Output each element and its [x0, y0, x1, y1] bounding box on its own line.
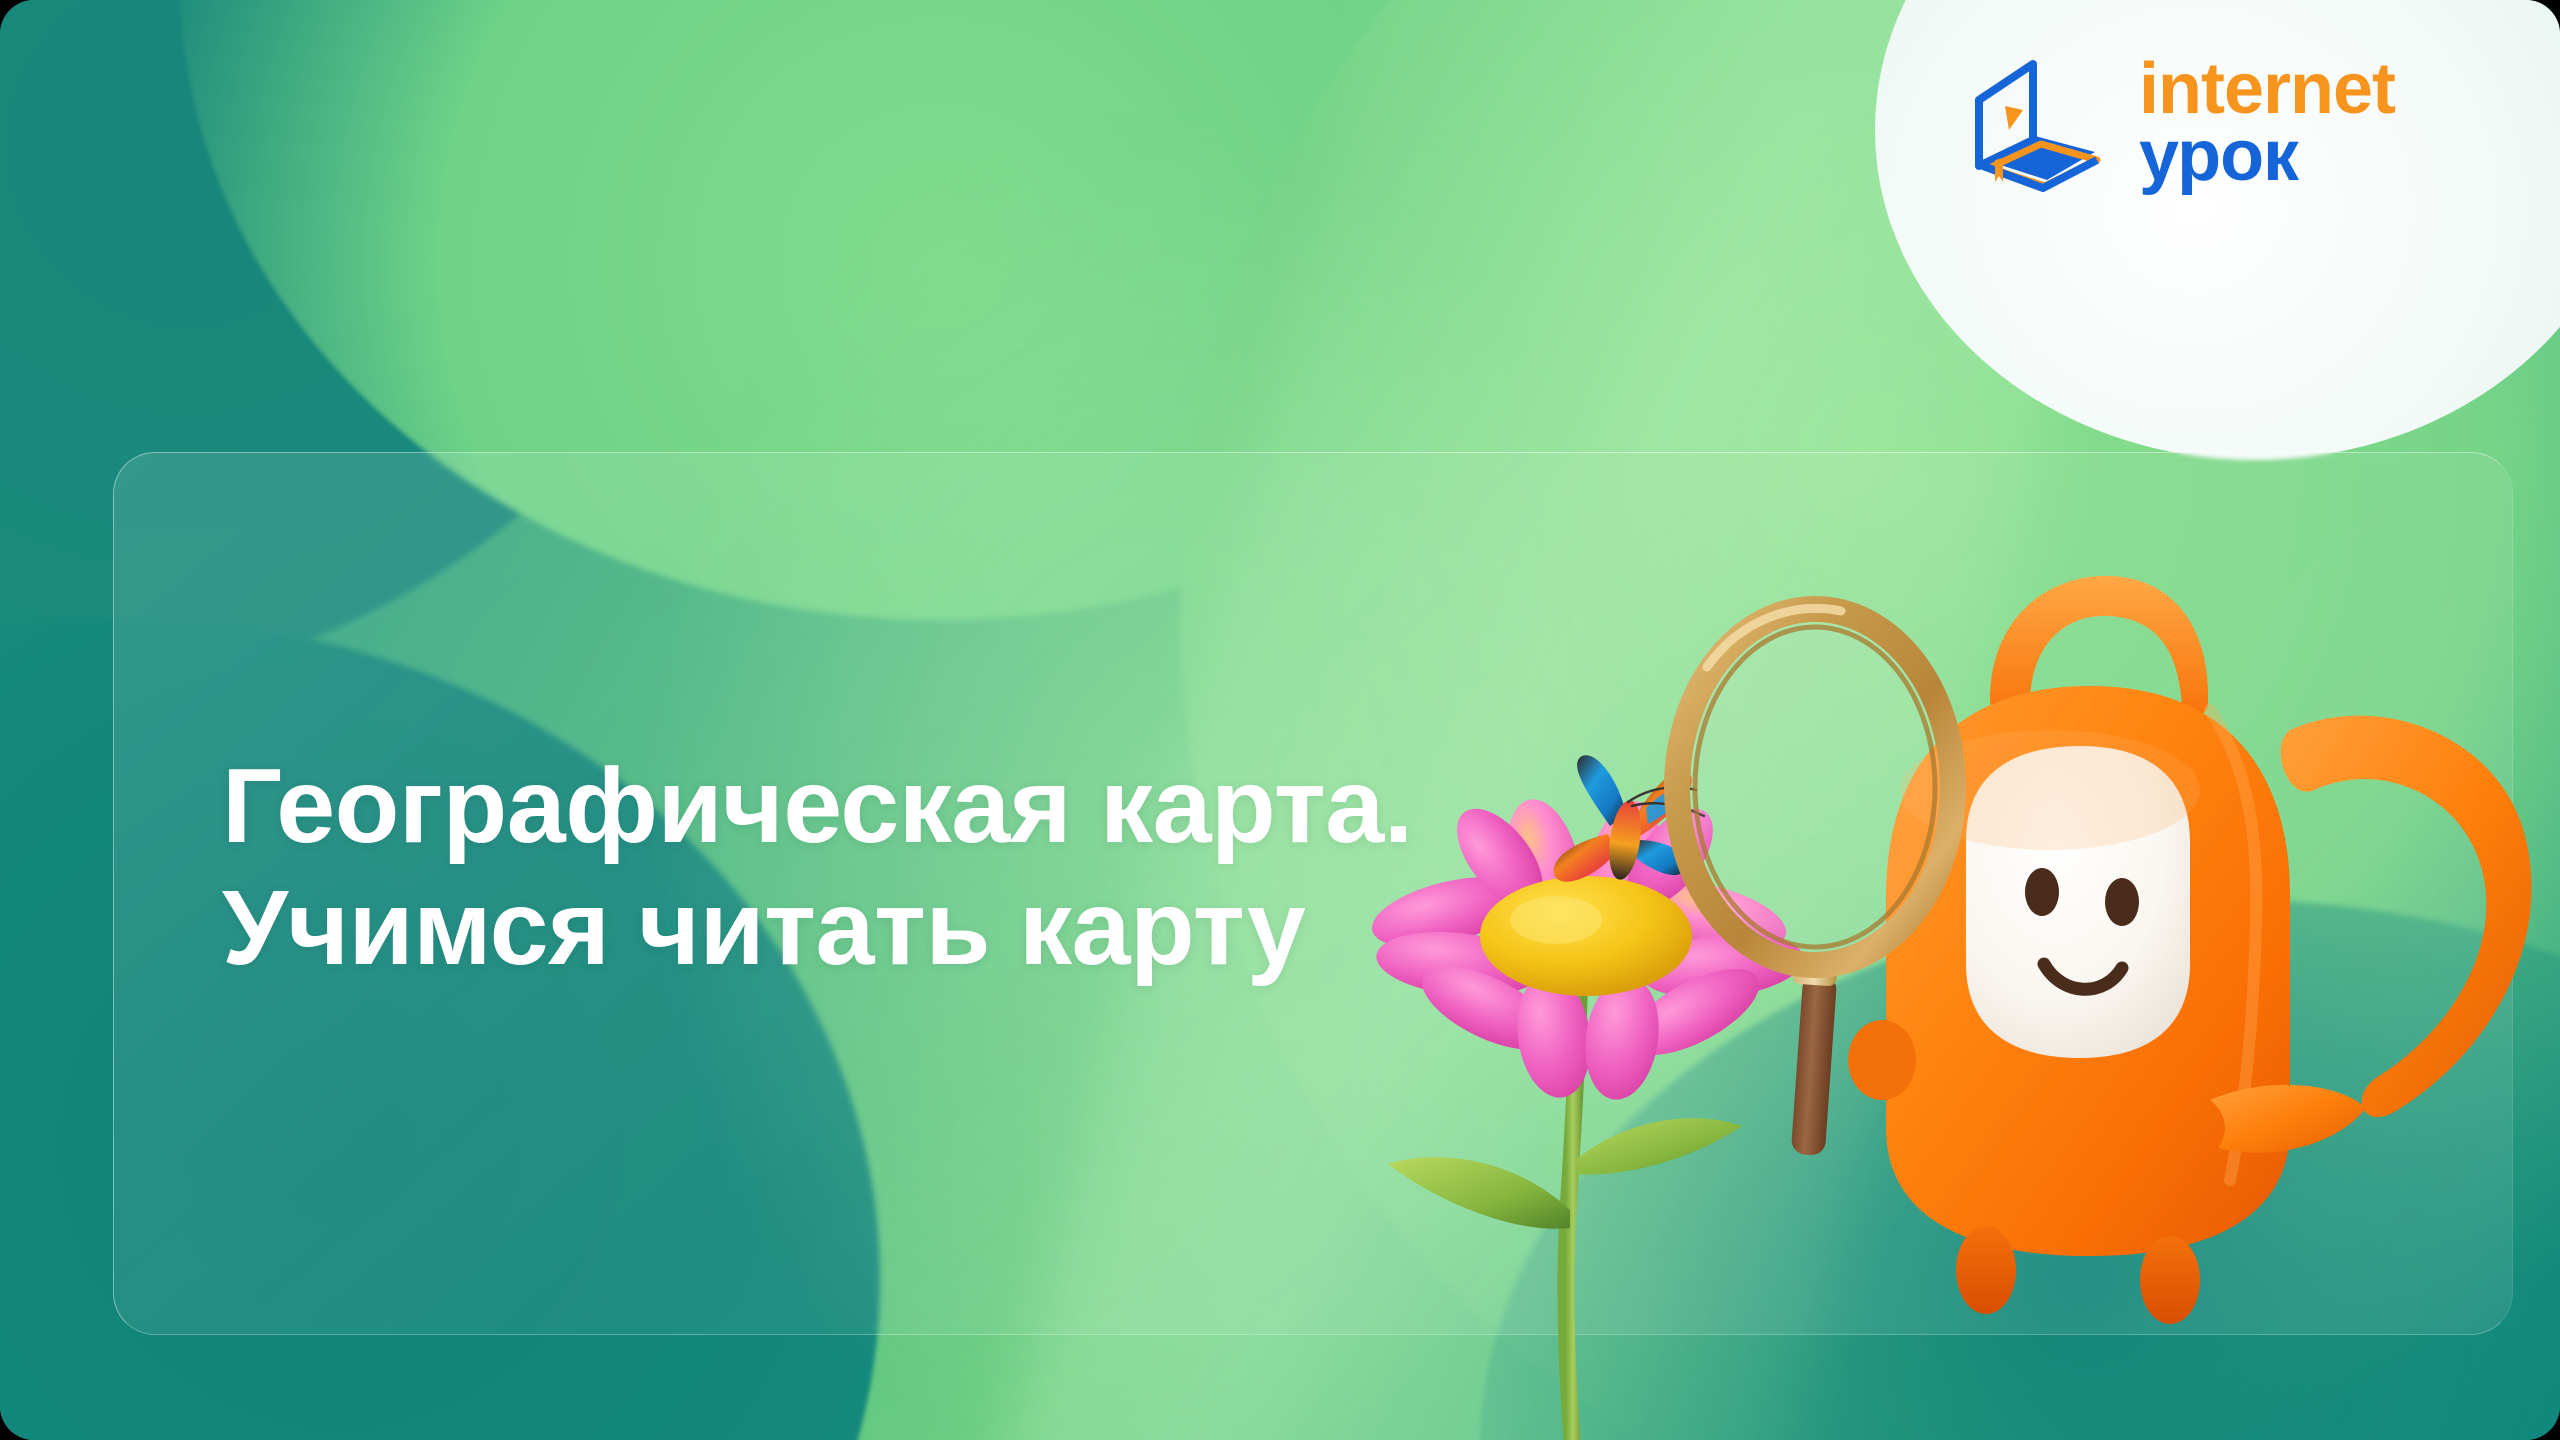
page-title: Географическая карта. Учимся читать карт…	[222, 745, 1422, 989]
logo-wordmark: internet урок	[2139, 56, 2395, 190]
logo-word-urok: урок	[2139, 123, 2395, 190]
laptop-book-icon	[1955, 48, 2105, 198]
logo-word-internet: internet	[2139, 56, 2395, 123]
title-line-2: Учимся читать карту	[222, 867, 1422, 989]
brand-logo[interactable]: internet урок	[1955, 38, 2555, 208]
lesson-title-banner: internet урок Географическая карта. Учим…	[0, 0, 2560, 1440]
title-line-1: Географическая карта.	[222, 745, 1422, 867]
